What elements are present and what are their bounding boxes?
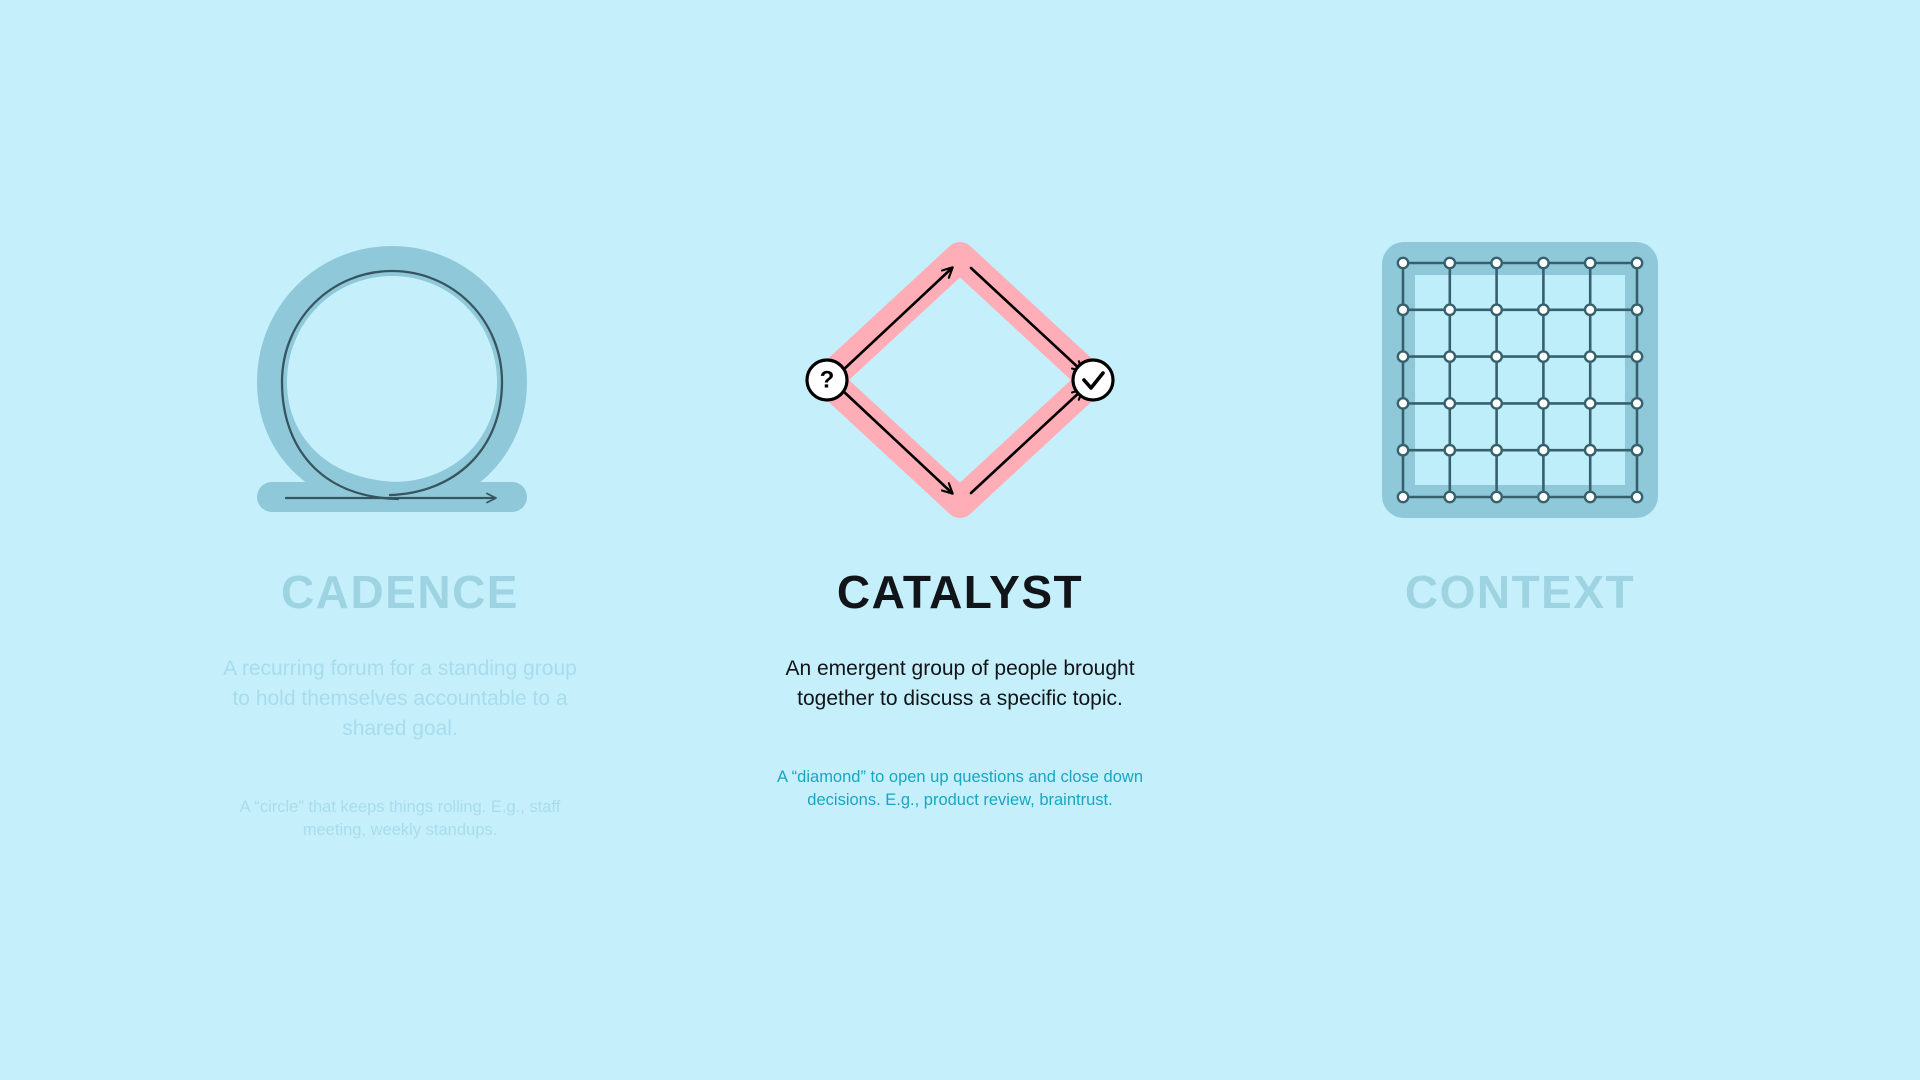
grid-node — [1491, 398, 1501, 408]
grid-node — [1585, 351, 1595, 361]
card-caption: A “circle” that keeps things rolling. E.… — [216, 796, 584, 843]
concept-card-cadence[interactable]: CADENCE A recurring forum for a standing… — [200, 230, 600, 843]
grid-node — [1445, 398, 1455, 408]
cadence-icon-slot — [200, 230, 600, 530]
grid-network-icon — [1382, 242, 1658, 518]
grid-node — [1491, 351, 1501, 361]
card-title: CADENCE — [281, 568, 519, 616]
grid-node — [1491, 492, 1501, 502]
grid-node — [1491, 305, 1501, 315]
grid-node — [1538, 258, 1548, 268]
grid-node — [1585, 445, 1595, 455]
grid-node — [1445, 351, 1455, 361]
arrow-lower-left — [842, 390, 952, 493]
catalyst-icon-slot: ? — [760, 230, 1160, 530]
grid-node — [1491, 445, 1501, 455]
grid-node — [1398, 305, 1408, 315]
grid-node — [1632, 398, 1642, 408]
grid-node — [1445, 492, 1455, 502]
card-title: CATALYST — [837, 568, 1083, 616]
grid-node — [1398, 445, 1408, 455]
grid-node — [1398, 258, 1408, 268]
grid-node — [1398, 398, 1408, 408]
grid-node — [1445, 258, 1455, 268]
grid-node — [1632, 445, 1642, 455]
arrow-upper-left — [842, 268, 952, 371]
grid-node — [1538, 445, 1548, 455]
grid-node — [1398, 351, 1408, 361]
arrow-upper-right — [971, 268, 1082, 371]
card-description: An emergent group of people brought toge… — [776, 654, 1144, 714]
grid-node — [1632, 305, 1642, 315]
grid-node — [1538, 351, 1548, 361]
question-badge: ? — [807, 360, 847, 400]
grid-node — [1538, 398, 1548, 408]
check-badge — [1073, 360, 1113, 400]
grid-node — [1445, 445, 1455, 455]
concepts-board: CADENCE A recurring forum for a standing… — [0, 0, 1920, 1080]
grid-node — [1445, 305, 1455, 315]
diamond-flow-icon: ? — [805, 235, 1115, 525]
grid-node — [1491, 258, 1501, 268]
concept-card-row: CADENCE A recurring forum for a standing… — [200, 230, 1720, 843]
grid-node — [1632, 351, 1642, 361]
diamond-outline — [827, 257, 1093, 503]
grid-node — [1585, 258, 1595, 268]
grid-node — [1632, 492, 1642, 502]
grid-node — [1585, 305, 1595, 315]
grid-node — [1585, 398, 1595, 408]
concept-card-context[interactable]: CONTEXT — [1320, 230, 1720, 706]
context-icon-slot — [1320, 230, 1720, 530]
arrow-lower-right — [971, 390, 1082, 493]
loop-arrow-icon — [250, 235, 550, 525]
grid-node — [1585, 492, 1595, 502]
grid-node — [1398, 492, 1408, 502]
grid-node — [1538, 492, 1548, 502]
card-description: A recurring forum for a standing group t… — [216, 654, 584, 743]
grid-node — [1538, 305, 1548, 315]
card-caption: A “diamond” to open up questions and clo… — [776, 766, 1144, 813]
concept-card-catalyst[interactable]: ? CATALYST An emergent group of people b… — [760, 230, 1160, 813]
question-badge-label: ? — [820, 367, 835, 394]
grid-node — [1632, 258, 1642, 268]
card-title: CONTEXT — [1405, 568, 1635, 616]
